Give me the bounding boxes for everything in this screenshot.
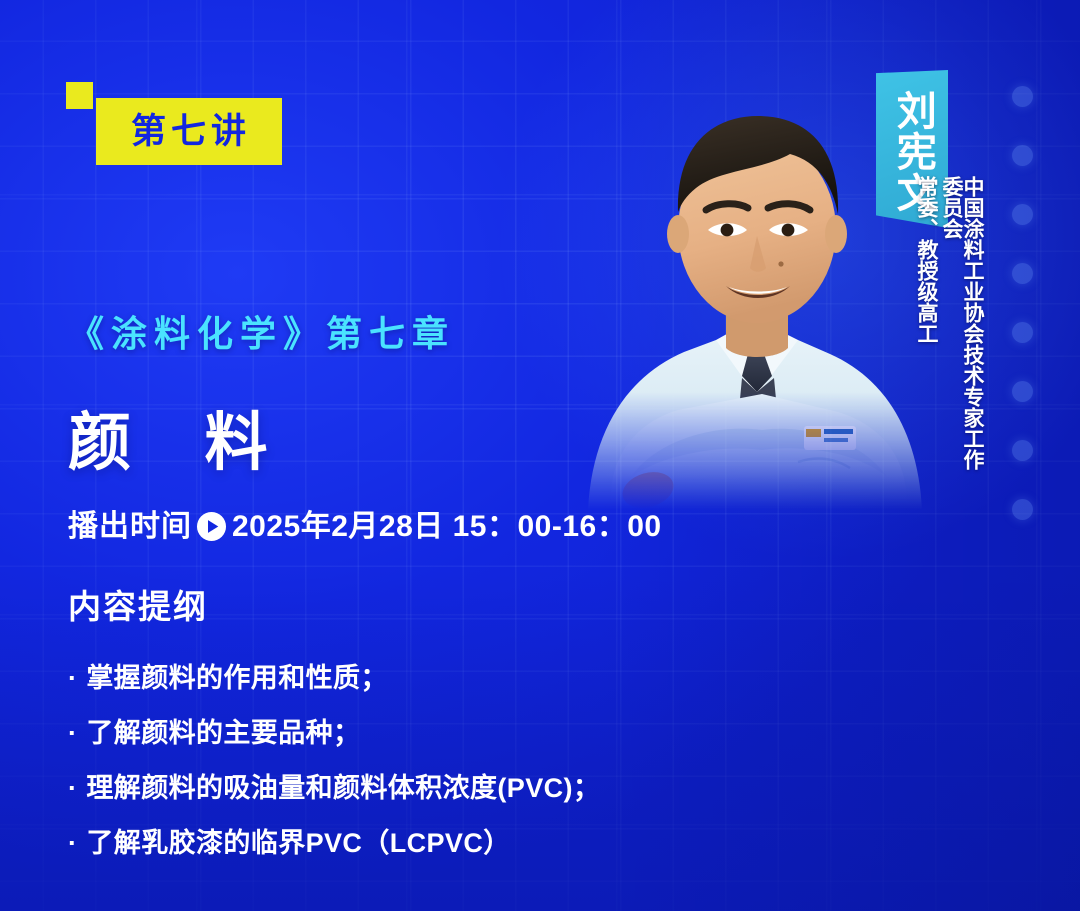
badge-plate: 第七讲: [96, 98, 282, 165]
bullet-marker-icon: ·: [68, 775, 77, 802]
list-item-label: 理解颜料的吸油量和颜料体积浓度(PVC)；: [86, 775, 600, 802]
airtime-label: 播出时间: [68, 512, 192, 542]
decorative-dot-icon: [1012, 381, 1033, 402]
list-item-label: 了解乳胶漆的临界PVC（LCPVC）: [86, 830, 510, 857]
badge-accent-square: [66, 82, 93, 109]
decorative-dot-icon: [1012, 86, 1033, 107]
outline-heading: 内容提纲: [68, 590, 828, 623]
decorative-dot-icon: [1012, 440, 1033, 461]
bullet-marker-icon: ·: [68, 665, 77, 692]
list-item-label: 掌握颜料的作用和性质；: [86, 665, 387, 692]
airtime-value: 2025年2月28日 15：00-16：00: [232, 512, 662, 542]
decorative-dot-icon: [1012, 263, 1033, 284]
credential-line-organization: 中国涂料工业协会技术专家工作委员会: [941, 176, 983, 476]
decorative-dot-column: [1012, 86, 1033, 520]
list-item: · 理解颜料的吸油量和颜料体积浓度(PVC)；: [68, 775, 828, 802]
list-item-label: 了解颜料的主要品种；: [86, 720, 360, 747]
bullet-marker-icon: ·: [68, 720, 77, 747]
credential-line-title: 常委、教授级高工: [916, 176, 937, 476]
course-subtitle: 《涂料化学》第七章: [68, 316, 828, 352]
decorative-dot-icon: [1012, 499, 1033, 520]
decorative-dot-icon: [1012, 204, 1033, 225]
bullet-marker-icon: ·: [68, 830, 77, 857]
poster-content: 《涂料化学》第七章 颜 料 播出时间 2025年2月28日 15：00-16：0…: [68, 316, 828, 885]
play-circle-icon: [196, 511, 227, 542]
list-item: · 掌握颜料的作用和性质；: [68, 665, 828, 692]
list-item: · 了解乳胶漆的临界PVC（LCPVC）: [68, 830, 828, 857]
airtime-row: 播出时间 2025年2月28日 15：00-16：00: [68, 511, 828, 542]
list-item: · 了解颜料的主要品种；: [68, 720, 828, 747]
outline-list: · 掌握颜料的作用和性质； · 了解颜料的主要品种； · 理解颜料的吸油量和颜料…: [68, 665, 828, 857]
lecture-poster: 第七讲: [0, 0, 1080, 911]
page-title: 颜 料: [68, 412, 828, 475]
decorative-dot-icon: [1012, 145, 1033, 166]
decorative-dot-icon: [1012, 322, 1033, 343]
speaker-credentials: 中国涂料工业协会技术专家工作委员会 常委、教授级高工: [916, 176, 983, 476]
badge-label: 第七讲: [127, 114, 251, 149]
